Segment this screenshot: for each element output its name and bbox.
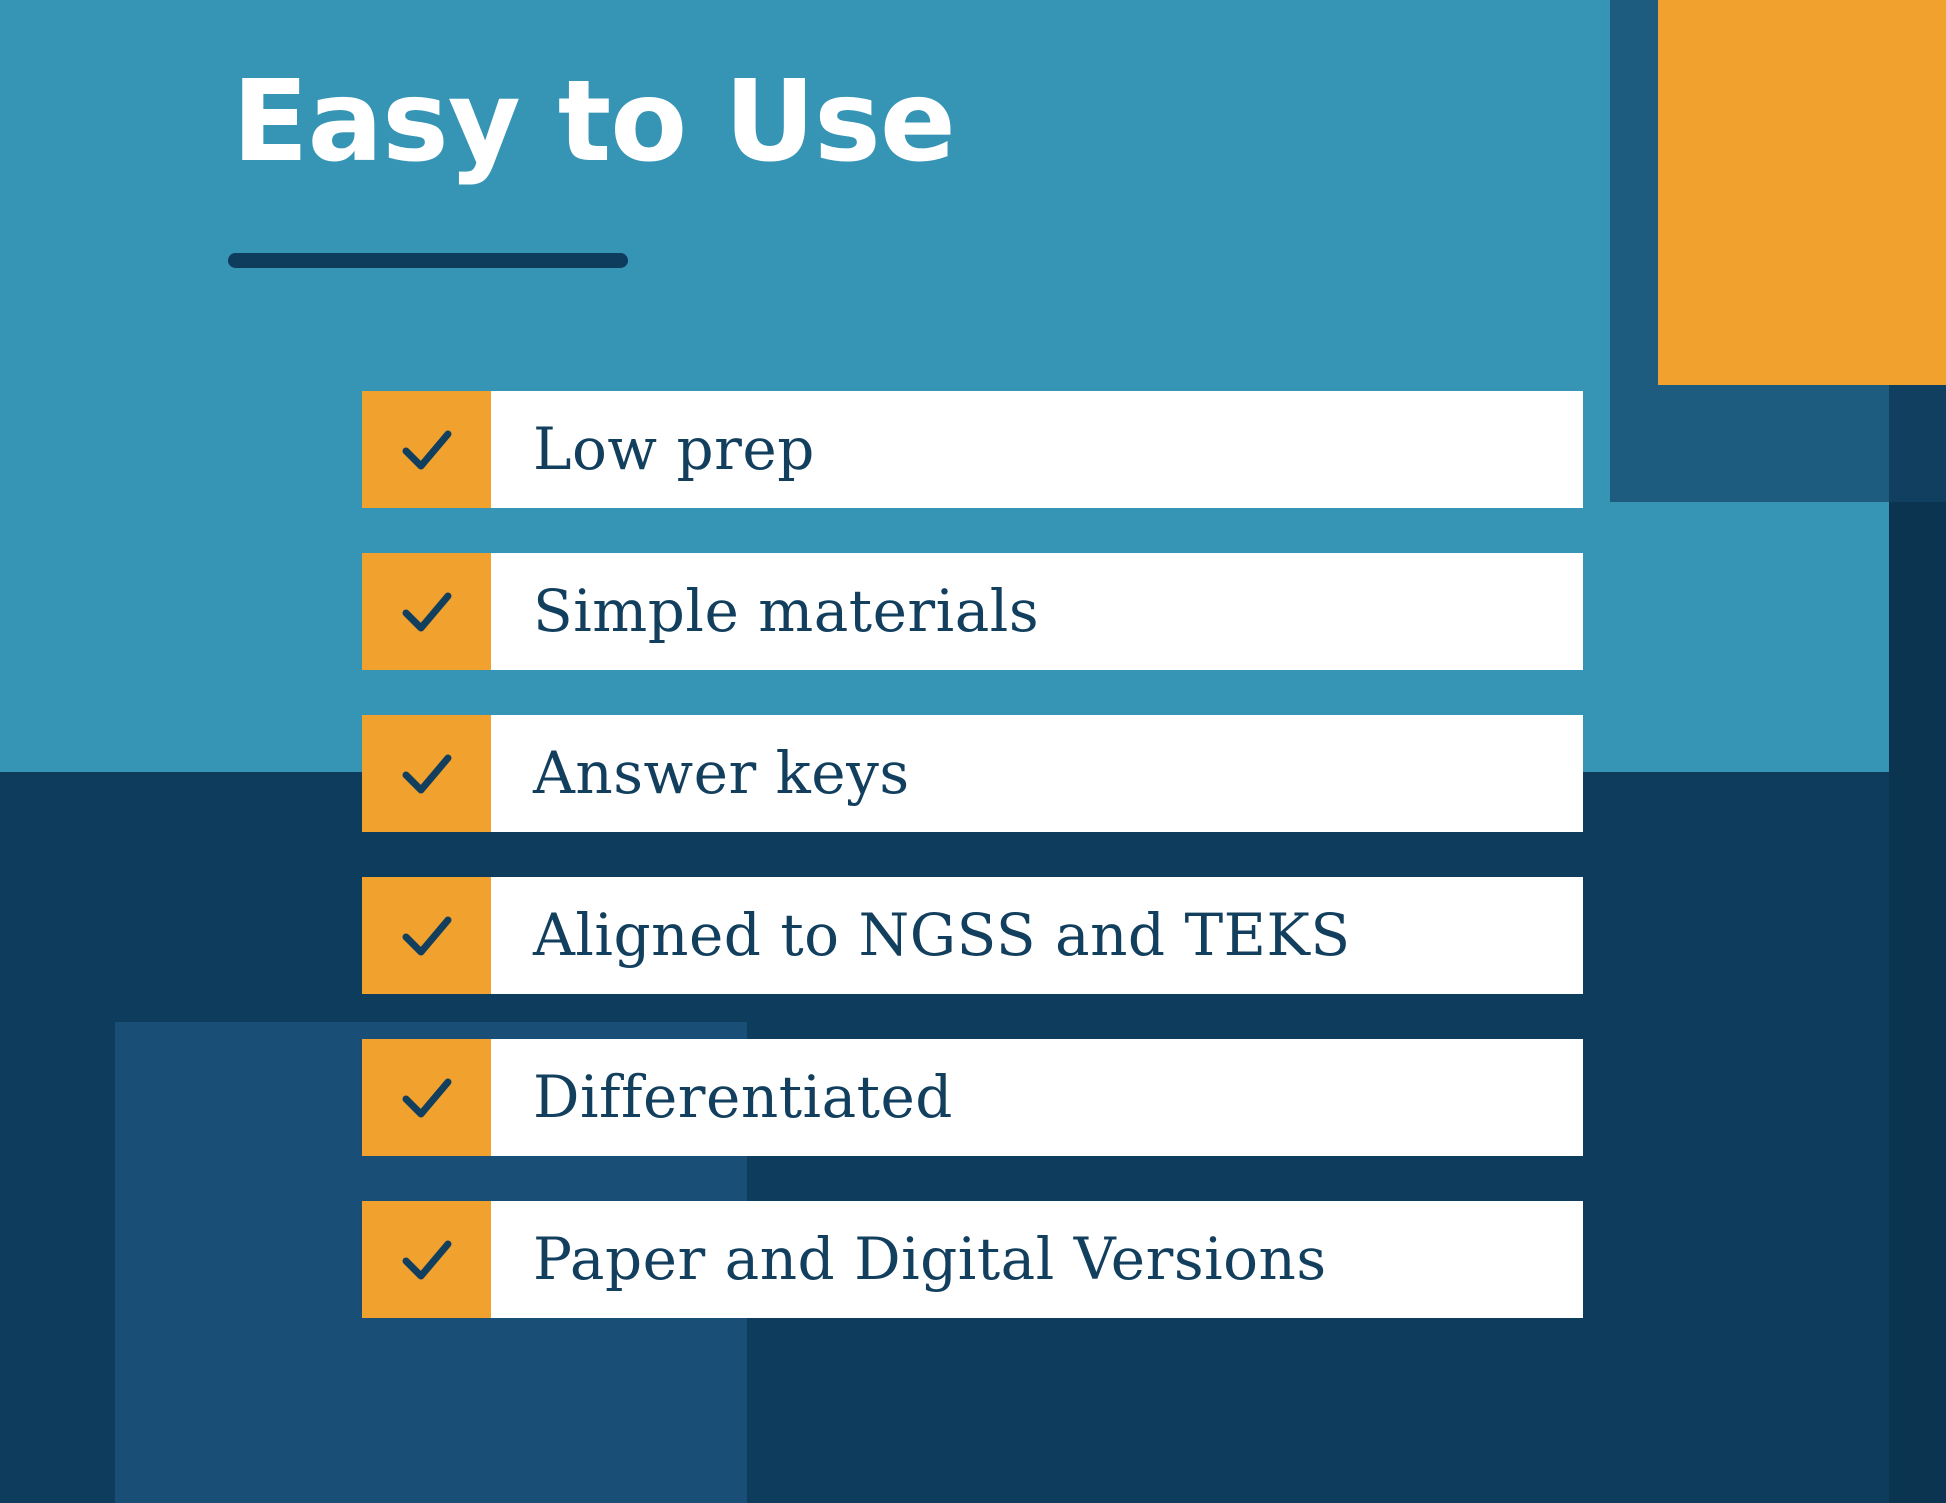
check-mark-icon <box>398 583 456 641</box>
feature-checklist: Low prep Simple materials Answer <box>362 391 1583 1318</box>
check-mark-icon <box>398 745 456 803</box>
checkbox-cell <box>362 553 491 670</box>
list-item: Low prep <box>362 391 1583 508</box>
check-mark-icon <box>398 907 456 965</box>
background-orange-corner-block <box>1658 0 1946 385</box>
checkbox-cell <box>362 391 491 508</box>
check-mark-icon <box>398 1069 456 1127</box>
list-item-label: Aligned to NGSS and TEKS <box>491 877 1583 994</box>
background-teal-right-column <box>1610 502 1889 772</box>
checkbox-cell <box>362 1201 491 1318</box>
list-item: Aligned to NGSS and TEKS <box>362 877 1583 994</box>
check-mark-icon <box>398 1231 456 1289</box>
page-title: Easy to Use <box>232 58 955 187</box>
checkbox-cell <box>362 715 491 832</box>
list-item: Differentiated <box>362 1039 1583 1156</box>
check-mark-icon <box>398 421 456 479</box>
list-item-label: Simple materials <box>491 553 1583 670</box>
title-underline-rule <box>228 253 628 268</box>
list-item: Answer keys <box>362 715 1583 832</box>
background-navy-right-strip-lower <box>1889 502 1946 1503</box>
list-item-label: Answer keys <box>491 715 1583 832</box>
list-item: Paper and Digital Versions <box>362 1201 1583 1318</box>
checkbox-cell <box>362 877 491 994</box>
poster-canvas: Easy to Use Low prep Simple <box>0 0 1946 1503</box>
list-item-label: Paper and Digital Versions <box>491 1201 1583 1318</box>
list-item: Simple materials <box>362 553 1583 670</box>
checkbox-cell <box>362 1039 491 1156</box>
list-item-label: Low prep <box>491 391 1583 508</box>
list-item-label: Differentiated <box>491 1039 1583 1156</box>
